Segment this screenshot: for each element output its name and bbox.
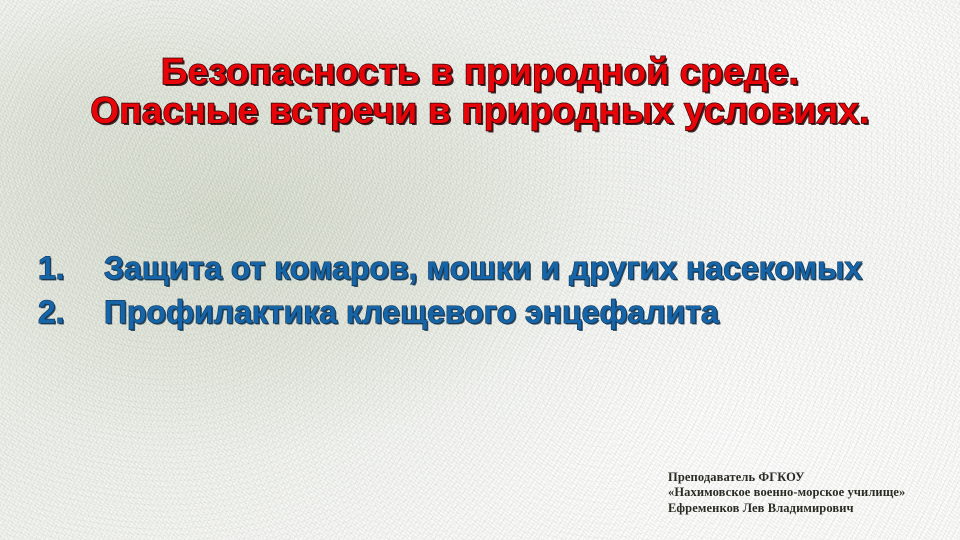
author-credit: Преподаватель ФГКОУ «Нахимовское военно-… [668,470,958,516]
title-line-2: Опасные встречи в природных условиях. [0,91,960,130]
list-item-text: Профилактика клещевого энцефалита [104,292,918,334]
agenda-list: 1. Защита от комаров, мошки и других нас… [38,248,918,335]
list-item-text: Защита от комаров, мошки и других насеко… [104,248,918,290]
list-item-number: 2. [38,292,104,334]
presentation-slide: Безопасность в природной среде. Опасные … [0,0,960,540]
author-credit-line-1: Преподаватель ФГКОУ [668,470,958,485]
slide-title: Безопасность в природной среде. Опасные … [0,52,960,130]
list-item: 2. Профилактика клещевого энцефалита [38,292,918,334]
list-item-number: 1. [38,248,104,290]
title-line-1: Безопасность в природной среде. [0,52,960,91]
list-item: 1. Защита от комаров, мошки и других нас… [38,248,918,290]
author-credit-line-3: Ефременков Лев Владимирович [668,501,958,516]
author-credit-line-2: «Нахимовское военно-морское училище» [668,485,958,500]
